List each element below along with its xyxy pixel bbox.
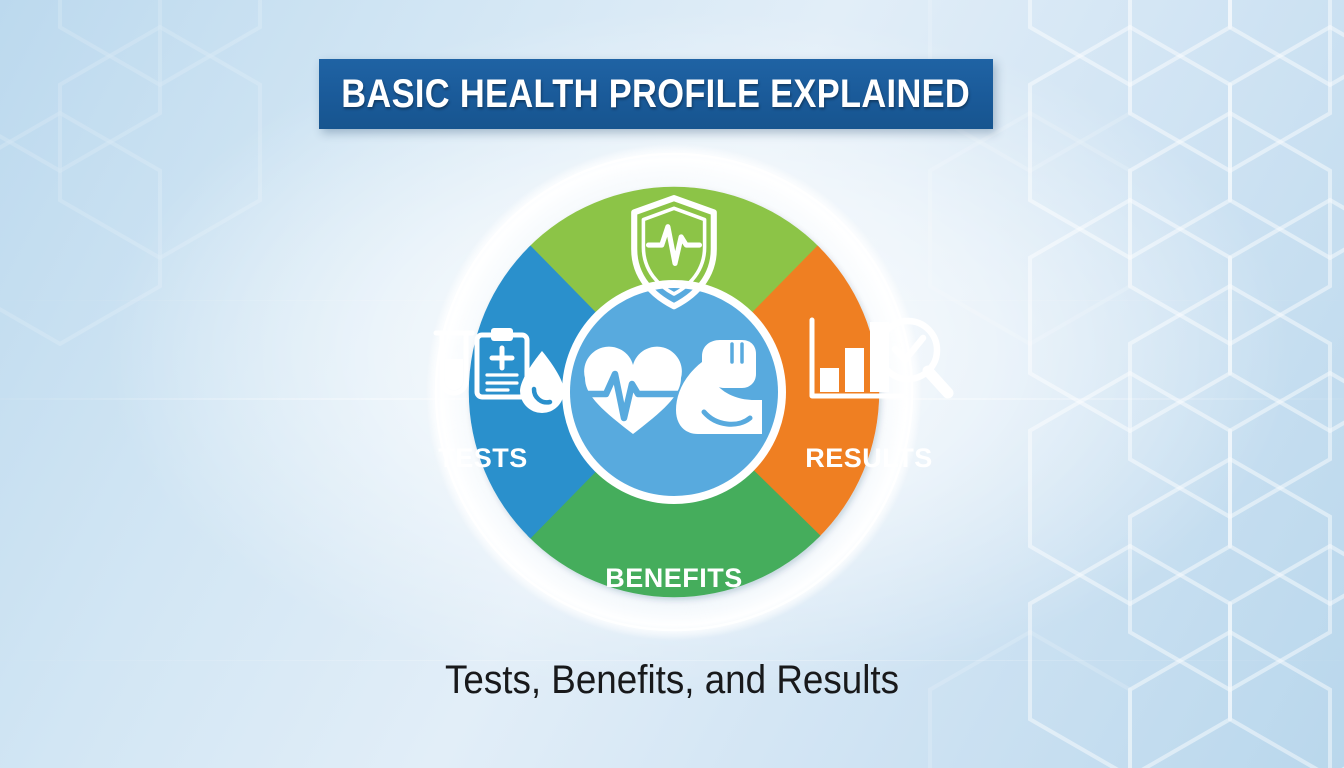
segment-label-tests: TESTS [438, 443, 528, 473]
segment-label-results: RESULTS [805, 443, 933, 473]
health-profile-wheel: TESTS RESULTS BENEFITS [358, 137, 990, 647]
segment-label-benefits: BENEFITS [605, 563, 743, 593]
infographic-canvas: BASIC HEALTH PROFILE EXPLAINED [0, 0, 1344, 768]
title-banner: BASIC HEALTH PROFILE EXPLAINED [319, 59, 993, 129]
page-title: BASIC HEALTH PROFILE EXPLAINED [342, 74, 971, 114]
page-subtitle: Tests, Benefits, and Results [54, 658, 1290, 703]
